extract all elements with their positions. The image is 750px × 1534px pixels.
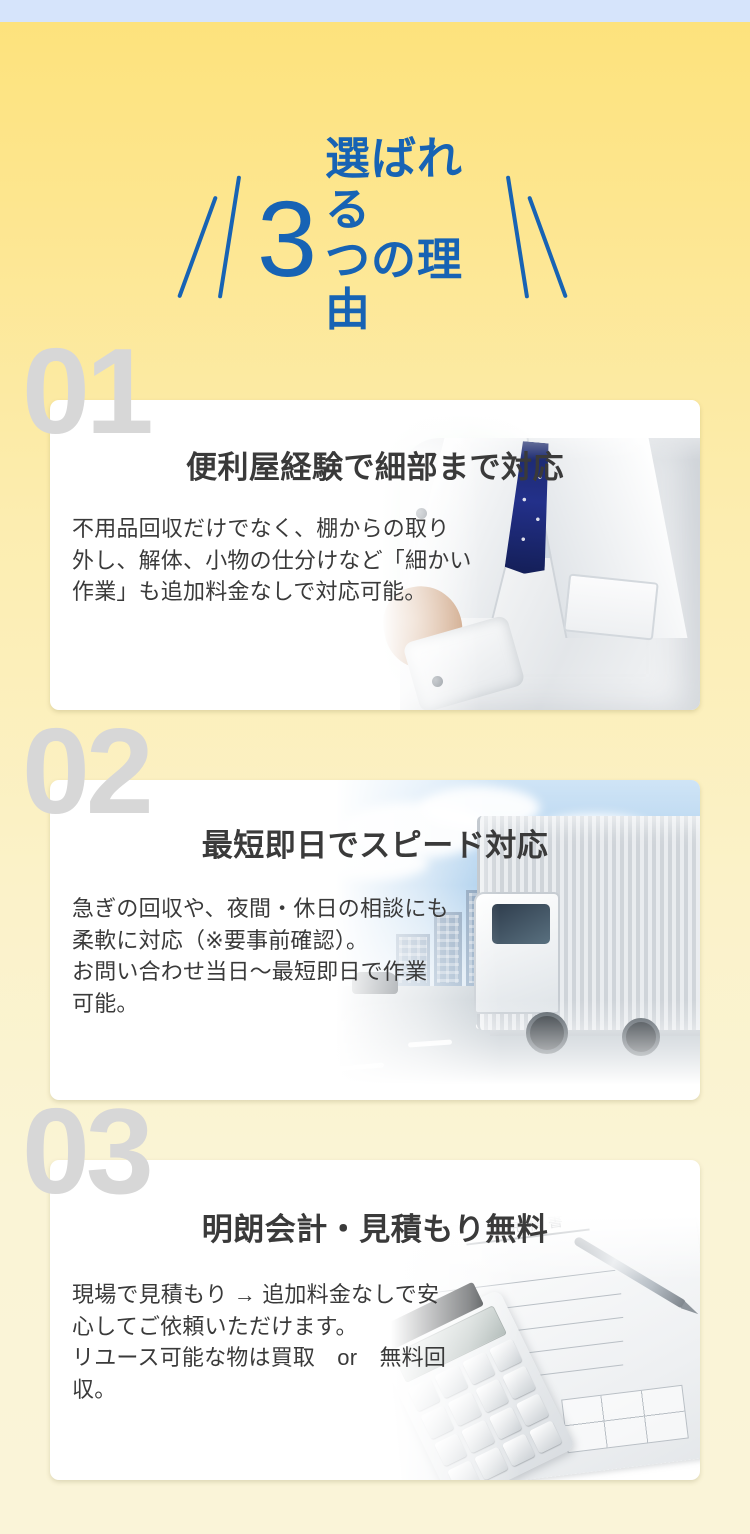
heading-text: 選ばれる つの理由 [325,134,497,336]
slash-accent-right [497,171,562,299]
reason-item-3: 03 御見積書 [0,1100,750,1500]
top-blue-strip [0,0,750,22]
slash-line-icon [505,175,528,298]
reason-body-3: 現場で見積もり → 追加料金なしで安 心してご依頼いただけます。 リユース可能な… [72,1279,700,1406]
heading-number: 3 [257,185,315,293]
heading-line-2: つの理由 [325,235,497,336]
section-heading: 3 選ばれる つの理由 [0,160,750,310]
page-root: 3 選ばれる つの理由 01 [0,0,750,1534]
slash-accent-left [188,171,253,299]
heading-line-1: 選ばれる [325,134,497,235]
slash-line-icon [527,196,568,299]
reason-number-03: 03 [22,1100,150,1202]
slash-line-icon [218,175,241,298]
slash-line-icon [177,196,218,299]
reason-body-2: 急ぎの回収や、夜間・休日の相談にも 柔軟に対応（※要事前確認）。 お問い合わせ当… [72,893,700,1020]
reason-body-1: 不用品回収だけでなく、棚からの取り 外し、解体、小物の仕分けなど「細かい 作業」… [72,513,700,608]
reason-number-02: 02 [22,720,150,822]
reason-item-1: 01 便利屋経験で細部まで対応 不用品回収だけでなく、棚からの取り 外し、解体、… [0,340,750,720]
reason-number-01: 01 [22,340,150,442]
reason-item-2: 02 [0,720,750,1120]
